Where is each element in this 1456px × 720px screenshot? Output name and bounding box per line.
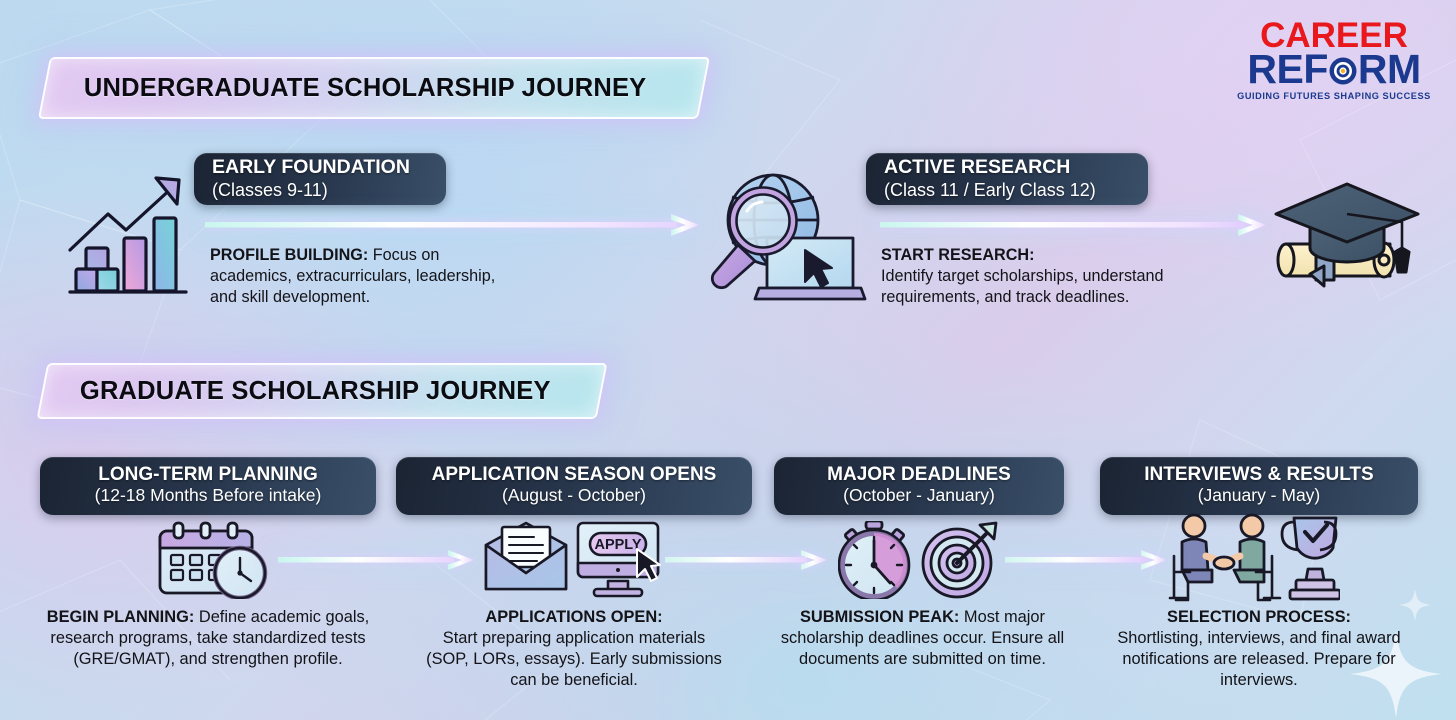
desc-begin-planning-bold: BEGIN PLANNING: xyxy=(47,608,195,626)
arrow-pg-2 xyxy=(665,548,830,572)
badge-application-season: APPLICATION SEASON OPENS (August - Octob… xyxy=(396,457,752,515)
logo-reform-part1: REF xyxy=(1247,46,1328,92)
desc-start-research: START RESEARCH: Identify target scholars… xyxy=(881,245,1166,308)
badge-early-foundation: EARLY FOUNDATION (Classes 9-11) xyxy=(194,153,446,205)
stopwatch-target-icon xyxy=(838,521,1000,599)
desc-selection-process-rest: Shortlisting, interviews, and final awar… xyxy=(1117,629,1400,689)
badge-long-term-planning-title: LONG-TERM PLANNING xyxy=(98,465,318,486)
badge-major-deadlines-title: MAJOR DEADLINES xyxy=(827,465,1011,486)
logo-line-reform: REFRM xyxy=(1234,49,1434,90)
arrow-pg-3 xyxy=(1005,548,1170,572)
desc-begin-planning: BEGIN PLANNING: Define academic goals, r… xyxy=(40,607,376,670)
desc-selection-process-bold: SELECTION PROCESS: xyxy=(1167,608,1351,626)
arrow-pg-1 xyxy=(278,548,478,572)
badge-long-term-planning-sub: (12-18 Months Before intake) xyxy=(95,486,322,506)
badge-major-deadlines: MAJOR DEADLINES (October - January) xyxy=(774,457,1064,515)
badge-application-season-title: APPLICATION SEASON OPENS xyxy=(432,465,717,486)
career-reform-logo: CAREER REFRM GUIDING FUTURES SHAPING SUC… xyxy=(1234,18,1434,101)
logo-tagline: GUIDING FUTURES SHAPING SUCCESS xyxy=(1234,92,1434,101)
desc-applications-open-bold: APPLICATIONS OPEN: xyxy=(485,608,662,626)
banner-undergraduate-label: UNDERGRADUATE SCHOLARSHIP JOURNEY xyxy=(84,74,646,103)
desc-profile-building-bold: PROFILE BUILDING: xyxy=(210,246,368,264)
desc-applications-open-rest: Start preparing application materials (S… xyxy=(426,629,722,689)
badge-active-research: ACTIVE RESEARCH (Class 11 / Early Class … xyxy=(866,153,1148,205)
envelope-apply-monitor-icon: APPLY xyxy=(482,519,662,599)
desc-submission-peak-bold: SUBMISSION PEAK: xyxy=(800,608,959,626)
badge-interviews-results: INTERVIEWS & RESULTS (January - May) xyxy=(1100,457,1418,515)
badge-early-foundation-title: EARLY FOUNDATION xyxy=(212,157,410,178)
badge-active-research-title: ACTIVE RESEARCH xyxy=(884,157,1070,178)
graduation-cap-diploma-icon xyxy=(1272,176,1422,294)
badge-major-deadlines-sub: (October - January) xyxy=(843,486,995,506)
desc-start-research-rest: Identify target scholarships, understand… xyxy=(881,267,1164,306)
arrow-ug-2 xyxy=(880,213,1270,237)
interview-trophy-icon xyxy=(1168,512,1340,604)
badge-active-research-sub: (Class 11 / Early Class 12) xyxy=(884,180,1096,200)
badge-early-foundation-sub: (Classes 9-11) xyxy=(212,180,328,200)
desc-start-research-bold: START RESEARCH: xyxy=(881,246,1034,264)
banner-graduate-label: GRADUATE SCHOLARSHIP JOURNEY xyxy=(80,377,551,406)
banner-undergraduate: UNDERGRADUATE SCHOLARSHIP JOURNEY xyxy=(38,57,710,119)
monitor-apply-label: APPLY xyxy=(594,537,641,553)
banner-graduate: GRADUATE SCHOLARSHIP JOURNEY xyxy=(37,363,608,419)
badge-interviews-results-title: INTERVIEWS & RESULTS xyxy=(1144,465,1373,486)
calendar-clock-icon xyxy=(152,521,274,599)
desc-submission-peak: SUBMISSION PEAK: Most major scholarship … xyxy=(780,607,1065,670)
badge-application-season-sub: (August - October) xyxy=(502,486,646,506)
desc-profile-building: PROFILE BUILDING: Focus on academics, ex… xyxy=(210,245,500,308)
logo-reform-part2: RM xyxy=(1358,46,1421,92)
badge-long-term-planning: LONG-TERM PLANNING (12-18 Months Before … xyxy=(40,457,376,515)
badge-interviews-results-sub: (January - May) xyxy=(1198,486,1321,506)
growth-chart-icon xyxy=(66,168,196,303)
desc-applications-open: APPLICATIONS OPEN: Start preparing appli… xyxy=(420,607,728,692)
globe-search-laptop-icon xyxy=(705,165,870,310)
arrow-ug-1 xyxy=(205,213,705,237)
desc-selection-process: SELECTION PROCESS: Shortlisting, intervi… xyxy=(1104,607,1414,692)
